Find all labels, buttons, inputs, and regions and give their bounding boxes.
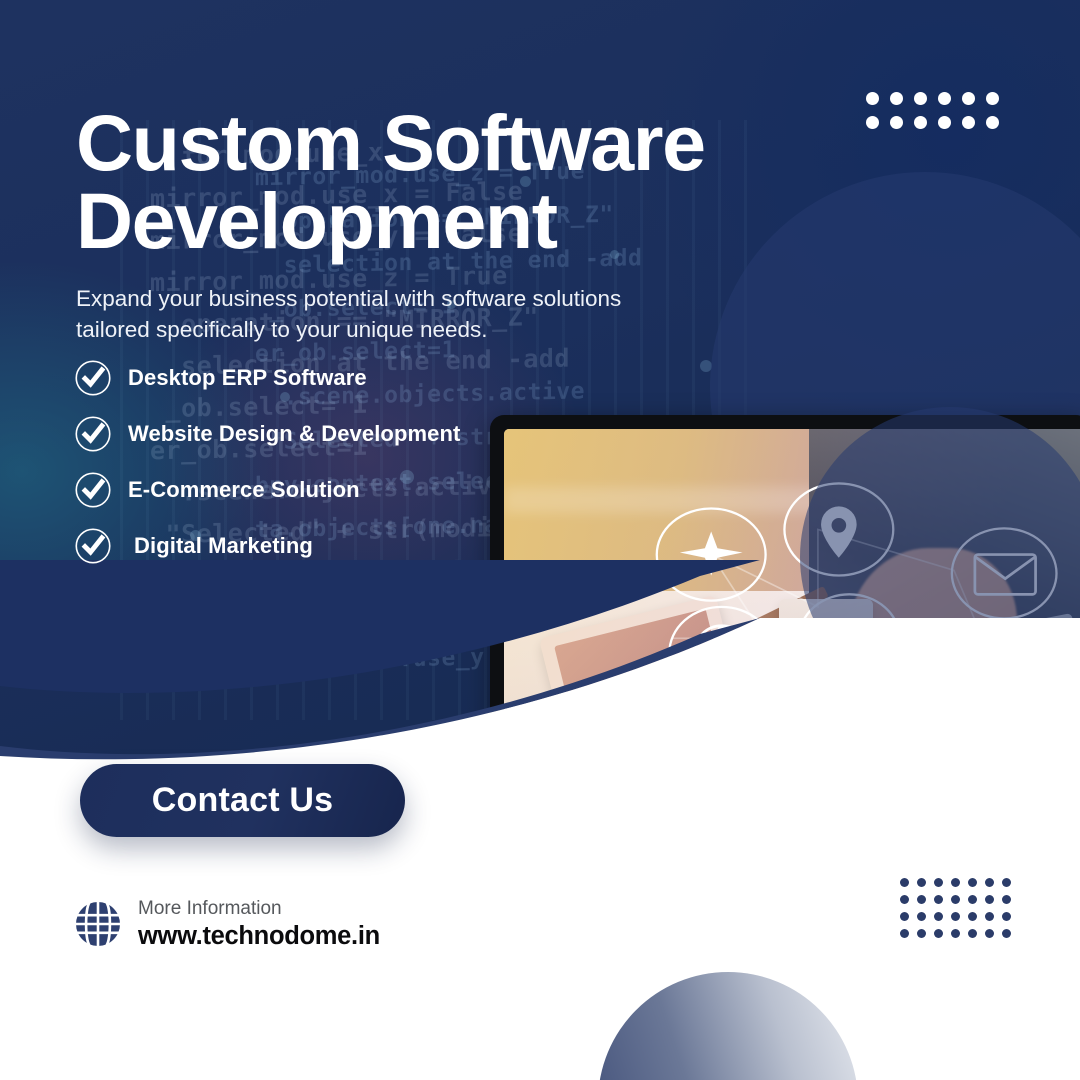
feature-item: Desktop ERP Software: [74, 352, 594, 404]
feature-item: E-Commerce Solution: [74, 464, 594, 516]
subtitle: Expand your business potential with soft…: [76, 283, 716, 345]
decorative-dot: [938, 92, 951, 105]
decorative-dot: [914, 116, 927, 129]
headline-line-1: Custom Software: [76, 104, 836, 182]
feature-list: Desktop ERP Software Website Design & De…: [74, 352, 594, 576]
decorative-swoosh: [0, 560, 1080, 920]
decorative-dot: [900, 895, 909, 904]
decorative-dot: [985, 929, 994, 938]
circle-check-icon: [74, 359, 112, 397]
decorative-dot: [917, 895, 926, 904]
decorative-dot: [934, 929, 943, 938]
decorative-dot: [890, 116, 903, 129]
dot-grid-bottom-right: [900, 878, 1019, 946]
decorative-dot: [962, 92, 975, 105]
footer-contact: More Information www.technodome.in: [74, 897, 380, 952]
subtitle-line-2: tailored specifically to your unique nee…: [76, 314, 716, 345]
decorative-dot: [1002, 912, 1011, 921]
decorative-dot: [914, 92, 927, 105]
feature-label: Desktop ERP Software: [128, 365, 367, 391]
decorative-dot: [900, 929, 909, 938]
headline-line-2: Development: [76, 182, 836, 260]
decorative-dot: [1002, 929, 1011, 938]
decorative-dot: [900, 912, 909, 921]
decorative-dot: [985, 895, 994, 904]
decorative-dot: [866, 116, 879, 129]
circle-check-icon: [74, 471, 112, 509]
footer-caption: More Information: [138, 897, 380, 921]
decorative-dot: [934, 895, 943, 904]
decorative-dot: [938, 116, 951, 129]
decorative-dot: [934, 912, 943, 921]
circle-check-icon: [74, 527, 112, 565]
decorative-dot: [986, 92, 999, 105]
decorative-dot: [1002, 878, 1011, 887]
contact-us-button[interactable]: Contact Us: [80, 764, 405, 837]
feature-item: Website Design & Development: [74, 408, 594, 460]
decorative-dot: [986, 116, 999, 129]
decorative-dot: [951, 912, 960, 921]
decorative-dot: [962, 116, 975, 129]
dot-grid-top-right: [866, 92, 1010, 140]
decorative-dot: [951, 895, 960, 904]
decorative-dot: [951, 878, 960, 887]
decorative-dot: [968, 912, 977, 921]
footer-text: More Information www.technodome.in: [138, 897, 380, 952]
contact-us-label: Contact Us: [152, 781, 333, 820]
decorative-dot: [968, 929, 977, 938]
decorative-dot: [917, 878, 926, 887]
decorative-dot: [934, 878, 943, 887]
decorative-dot: [968, 878, 977, 887]
decorative-dot: [1002, 895, 1011, 904]
decorative-dot: [917, 929, 926, 938]
feature-label: Website Design & Development: [128, 421, 460, 447]
page-title: Custom Software Development: [76, 104, 836, 260]
feature-item: Digital Marketing: [74, 520, 594, 572]
decorative-dot: [985, 912, 994, 921]
decorative-dot: [951, 929, 960, 938]
decorative-dot: [890, 92, 903, 105]
footer-url[interactable]: www.technodome.in: [138, 921, 380, 952]
decorative-dot: [866, 92, 879, 105]
decorative-dot: [900, 878, 909, 887]
decorative-dot: [917, 912, 926, 921]
feature-label: Digital Marketing: [134, 533, 313, 559]
feature-label: E-Commerce Solution: [128, 477, 360, 503]
decorative-circle-bottom: [598, 972, 858, 1080]
promo-poster: for mod.use_x mirror_mod.use_x = False m…: [0, 0, 1080, 1080]
decorative-dot: [968, 895, 977, 904]
decorative-dot: [985, 878, 994, 887]
globe-icon: [74, 900, 122, 948]
circle-check-icon: [74, 415, 112, 453]
subtitle-line-1: Expand your business potential with soft…: [76, 283, 716, 314]
